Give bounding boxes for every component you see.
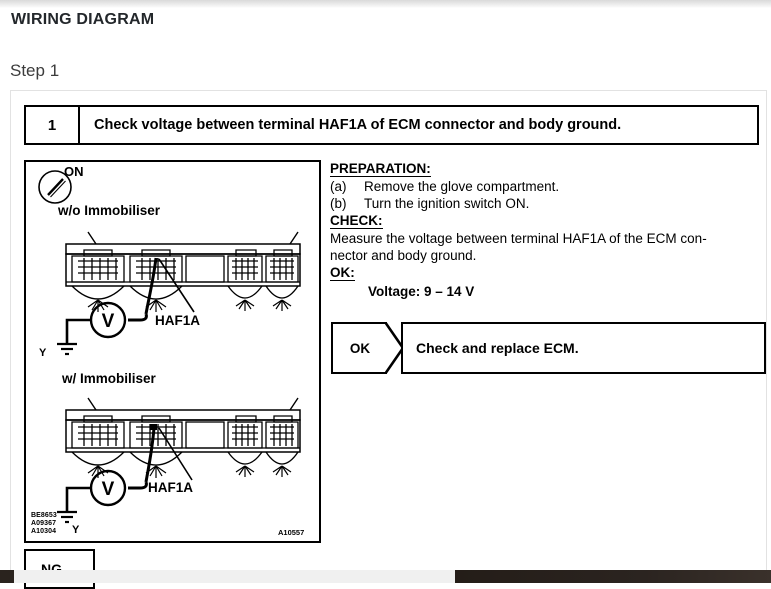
check-text-line2: nector and body ground. xyxy=(330,247,766,264)
ground-symbol-bottom xyxy=(57,512,77,522)
preparation-text-a: Remove the glove compartment. xyxy=(364,178,559,195)
terminal-label-bottom: HAF1A xyxy=(148,480,193,495)
horizontal-scrollbar[interactable] xyxy=(14,570,455,583)
preparation-marker-a: (a) xyxy=(330,178,364,195)
ok-heading: OK: xyxy=(330,265,355,281)
figure-reference-code-right: A10557 xyxy=(278,528,304,537)
ok-voltage-spec: Voltage: 9 – 14 V xyxy=(368,282,766,302)
ok-action-box: Check and replace ECM. xyxy=(401,322,766,374)
step-label: Step 1 xyxy=(10,61,59,81)
preparation-marker-b: (b) xyxy=(330,195,364,212)
wire-color-label-top: Y xyxy=(39,347,46,359)
check-heading: CHECK: xyxy=(330,213,383,229)
ok-tag: OK xyxy=(331,322,387,374)
window-top-chrome xyxy=(0,0,771,8)
ignition-on-label: ON xyxy=(64,164,84,179)
preparation-item-a: (a) Remove the glove compartment. xyxy=(330,178,766,195)
step-number: 1 xyxy=(26,107,80,143)
ng-tag: NG xyxy=(24,549,95,589)
voltmeter-label-bottom: V xyxy=(102,479,115,500)
bottom-dark-bar xyxy=(455,570,771,583)
ecm-connector-bottom xyxy=(57,398,300,522)
ok-result-row: OK Check and replace ECM. xyxy=(331,322,766,374)
figure-reference-codes: BE8653 A09367 A10304 xyxy=(31,512,57,537)
ground-symbol-top xyxy=(57,344,77,354)
preparation-text-b: Turn the ignition switch ON. xyxy=(364,195,529,212)
variant-label-with-immobiliser: w/ Immobiliser xyxy=(62,371,156,386)
page-title: WIRING DIAGRAM xyxy=(11,11,154,29)
procedure-panel: PREPARATION: (a) Remove the glove compar… xyxy=(330,160,766,302)
step-header-row: 1 Check voltage between terminal HAF1A o… xyxy=(24,105,759,145)
step-instruction: Check voltage between terminal HAF1A of … xyxy=(80,107,757,143)
variant-label-without-immobiliser: w/o Immobiliser xyxy=(58,203,160,218)
ecm-connector-top xyxy=(57,232,300,354)
voltmeter-label-top: V xyxy=(102,311,115,332)
bottom-left-edge xyxy=(0,570,14,583)
check-text-line1: Measure the voltage between terminal HAF… xyxy=(330,230,766,247)
wire-color-label-bottom: Y xyxy=(72,524,79,536)
preparation-item-b: (b) Turn the ignition switch ON. xyxy=(330,195,766,212)
preparation-heading: PREPARATION: xyxy=(330,161,431,177)
terminal-label-top: HAF1A xyxy=(155,313,200,328)
